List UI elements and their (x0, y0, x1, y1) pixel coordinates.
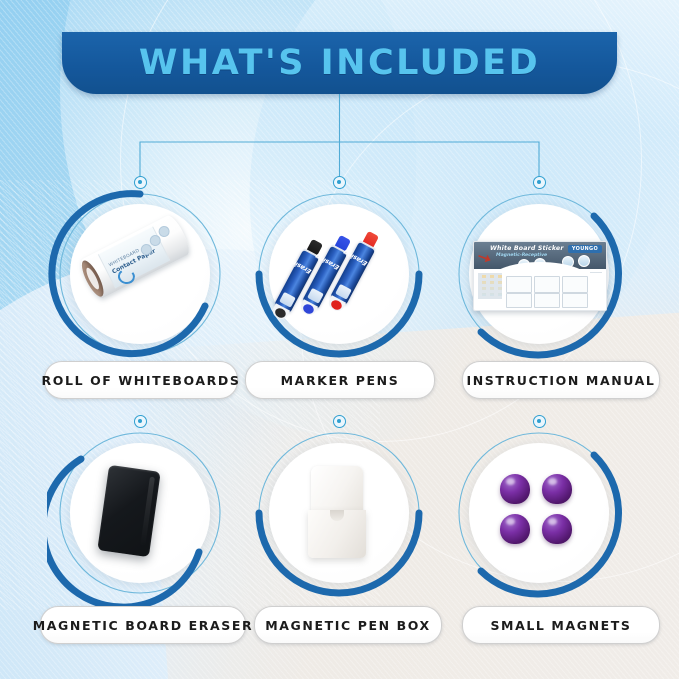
circle-5 (246, 420, 432, 606)
circle-4 (47, 420, 233, 606)
art-board-eraser (47, 420, 233, 606)
label-text-5: MAGNETIC PEN BOX (265, 618, 431, 633)
art-marker-pens: Erasing Erasing (246, 181, 432, 367)
eraser-graphic (97, 465, 160, 557)
manual-step-cell-6 (562, 293, 588, 308)
label-small-magnets: SMALL MAGNETS (462, 606, 660, 644)
magnet-4 (542, 514, 572, 544)
manual-color-grid (478, 273, 502, 299)
manual-step-cell-4 (506, 293, 532, 308)
art-whiteboard-roll: WHITEBOARD Contact Paper (47, 181, 233, 367)
page-title: WHAT'S INCLUDED (139, 43, 540, 83)
manual-step-cell-5 (534, 293, 560, 308)
art-instruction-manual: White Board Sticker Magnetic-Receptive Y… (446, 181, 632, 367)
circle-1: WHITEBOARD Contact Paper (47, 181, 233, 367)
roll-graphic: WHITEBOARD Contact Paper (77, 213, 193, 301)
label-instruction-manual: INSTRUCTION MANUAL (462, 361, 660, 399)
product-infographic: WHAT'S INCLUDED WHITEBOARD Contact P (0, 0, 679, 679)
item-small-magnets[interactable] (446, 420, 632, 606)
magnets-graphic (498, 472, 582, 556)
manual-step-cell-3 (562, 276, 588, 293)
art-pen-box (246, 420, 432, 606)
item-magnetic-pen-box[interactable] (246, 420, 432, 606)
label-roll-of-whiteboards: ROLL OF WHITEBOARDS (44, 361, 238, 399)
item-instruction-manual[interactable]: White Board Sticker Magnetic-Receptive Y… (446, 181, 632, 367)
art-small-magnets (446, 420, 632, 606)
penbox-top (311, 466, 363, 516)
magnet-1 (500, 474, 530, 504)
circle-2: Erasing Erasing (246, 181, 432, 367)
label-text-3: INSTRUCTION MANUAL (467, 373, 656, 388)
penbox-graphic (308, 466, 366, 558)
label-marker-pens: MARKER PENS (245, 361, 435, 399)
circle-3: White Board Sticker Magnetic-Receptive Y… (446, 181, 632, 367)
item-marker-pens[interactable]: Erasing Erasing (246, 181, 432, 367)
header-banner: WHAT'S INCLUDED (62, 32, 617, 94)
label-text-6: SMALL MAGNETS (490, 618, 631, 633)
manual-sheet: White Board Sticker Magnetic-Receptive Y… (473, 241, 607, 311)
magnet-2 (542, 474, 572, 504)
label-text-2: MARKER PENS (281, 373, 400, 388)
manual-divider (590, 272, 602, 273)
label-text-1: ROLL OF WHITEBOARDS (42, 373, 241, 388)
label-magnetic-board-eraser: MAGNETIC BOARD ERASER (40, 606, 246, 644)
label-text-4: MAGNETIC BOARD ERASER (33, 618, 254, 633)
item-roll-of-whiteboards[interactable]: WHITEBOARD Contact Paper (47, 181, 233, 367)
manual-step-cell-1 (506, 276, 532, 293)
item-magnetic-board-eraser[interactable] (47, 420, 233, 606)
circle-6 (446, 420, 632, 606)
pens-graphic: Erasing Erasing (286, 227, 392, 323)
manual-brand-badge: YOUNGO (568, 245, 602, 253)
manual-bubble-icon-4 (578, 255, 590, 267)
label-magnetic-pen-box: MAGNETIC PEN BOX (254, 606, 442, 644)
manual-title: White Board Sticker (490, 245, 564, 252)
magnet-3 (500, 514, 530, 544)
manual-step-cell-2 (534, 276, 560, 293)
